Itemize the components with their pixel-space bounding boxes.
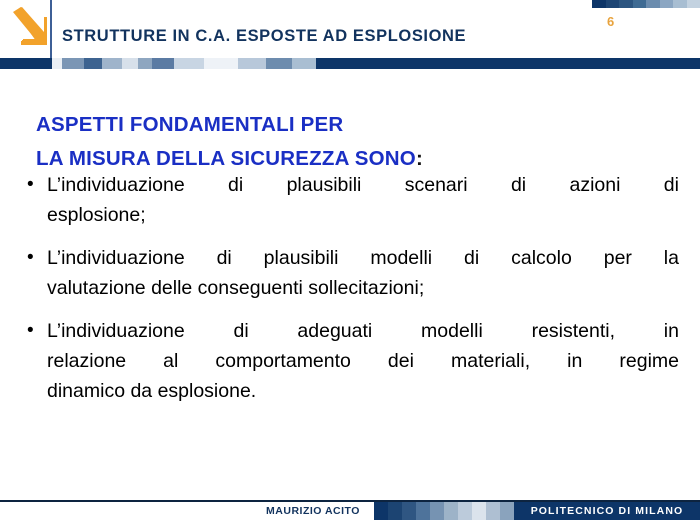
footer-bar: MAURIZIO ACITO POLITECNICO DI MILANO <box>0 502 700 520</box>
bullet-line: relazione al comportamento dei materiali… <box>47 346 679 376</box>
footer-university: POLITECNICO DI MILANO <box>514 502 700 520</box>
bullet-line: L’individuazione di plausibili scenari d… <box>47 170 679 200</box>
gradient-block <box>633 0 647 8</box>
gradient-block <box>416 502 430 520</box>
header-vertical-divider <box>50 0 52 58</box>
page-number: 6 <box>607 14 614 29</box>
bullet-list: • L’individuazione di plausibili scenari… <box>27 170 679 419</box>
gradient-block <box>374 502 388 520</box>
gradient-block <box>388 502 402 520</box>
bullet-line: L’individuazione di plausibili modelli d… <box>47 243 679 273</box>
gradient-block <box>472 502 486 520</box>
page-title: STRUTTURE IN C.A. ESPOSTE AD ESPLOSIONE <box>62 27 466 46</box>
bullet-line: esplosione; <box>47 200 679 230</box>
gradient-block <box>138 58 152 69</box>
gradient-block <box>84 58 102 69</box>
gradient-block <box>402 502 416 520</box>
gradient-block <box>62 58 84 69</box>
lead-heading-line-1: ASPETTI FONDAMENTALI PER <box>36 108 656 142</box>
gradient-block <box>204 58 238 69</box>
gradient-block <box>174 58 204 69</box>
gradient-block <box>673 0 687 8</box>
slide-header: STRUTTURE IN C.A. ESPOSTE AD ESPLOSIONE … <box>0 0 700 58</box>
slide-footer: MAURIZIO ACITO POLITECNICO DI MILANO <box>0 489 700 525</box>
gradient-block <box>646 0 660 8</box>
gradient-block <box>266 58 292 69</box>
header-gradient-strip <box>592 0 700 8</box>
gradient-block <box>238 58 266 69</box>
bullet-text: L’individuazione di plausibili modelli d… <box>47 243 679 303</box>
gradient-block <box>102 58 122 69</box>
arrow-down-right-icon <box>11 7 47 49</box>
bullet-marker-icon: • <box>27 243 47 273</box>
bullet-line: valutazione delle conseguenti sollecitaz… <box>47 273 679 303</box>
list-item: • L’individuazione di adeguati modelli r… <box>27 316 679 406</box>
gradient-block <box>486 502 500 520</box>
bullet-line: dinamico da esplosione. <box>47 376 679 406</box>
bullet-line: L’individuazione di adeguati modelli res… <box>47 316 679 346</box>
footer-spacer <box>0 502 252 520</box>
gradient-block <box>292 58 316 69</box>
bullet-marker-icon: • <box>27 170 47 200</box>
lead-heading: ASPETTI FONDAMENTALI PER LA MISURA DELLA… <box>36 108 656 176</box>
gradient-block <box>687 0 700 8</box>
gradient-block <box>500 502 514 520</box>
gradient-block <box>619 0 633 8</box>
list-item: • L’individuazione di plausibili modelli… <box>27 243 679 303</box>
gradient-block <box>152 58 174 69</box>
gradient-block <box>660 0 674 8</box>
gradient-block <box>316 58 700 69</box>
gradient-block <box>458 502 472 520</box>
slide-body: ASPETTI FONDAMENTALI PER LA MISURA DELLA… <box>0 69 700 489</box>
lead-heading-line-2-text: LA MISURA DELLA SICUREZZA SONO <box>36 147 416 170</box>
bullet-text: L’individuazione di plausibili scenari d… <box>47 170 679 230</box>
gradient-block <box>430 502 444 520</box>
list-item: • L’individuazione di plausibili scenari… <box>27 170 679 230</box>
footer-author: MAURIZIO ACITO <box>252 502 374 520</box>
lead-heading-colon: : <box>416 147 423 170</box>
gradient-block <box>592 0 606 8</box>
gradient-block <box>606 0 620 8</box>
gradient-block <box>0 58 52 69</box>
gradient-block <box>52 58 62 69</box>
bullet-text: L’individuazione di adeguati modelli res… <box>47 316 679 406</box>
header-gradient-rule <box>0 58 700 69</box>
bullet-marker-icon: • <box>27 316 47 346</box>
footer-gradient-blocks <box>374 502 514 520</box>
gradient-block <box>122 58 138 69</box>
gradient-block <box>444 502 458 520</box>
